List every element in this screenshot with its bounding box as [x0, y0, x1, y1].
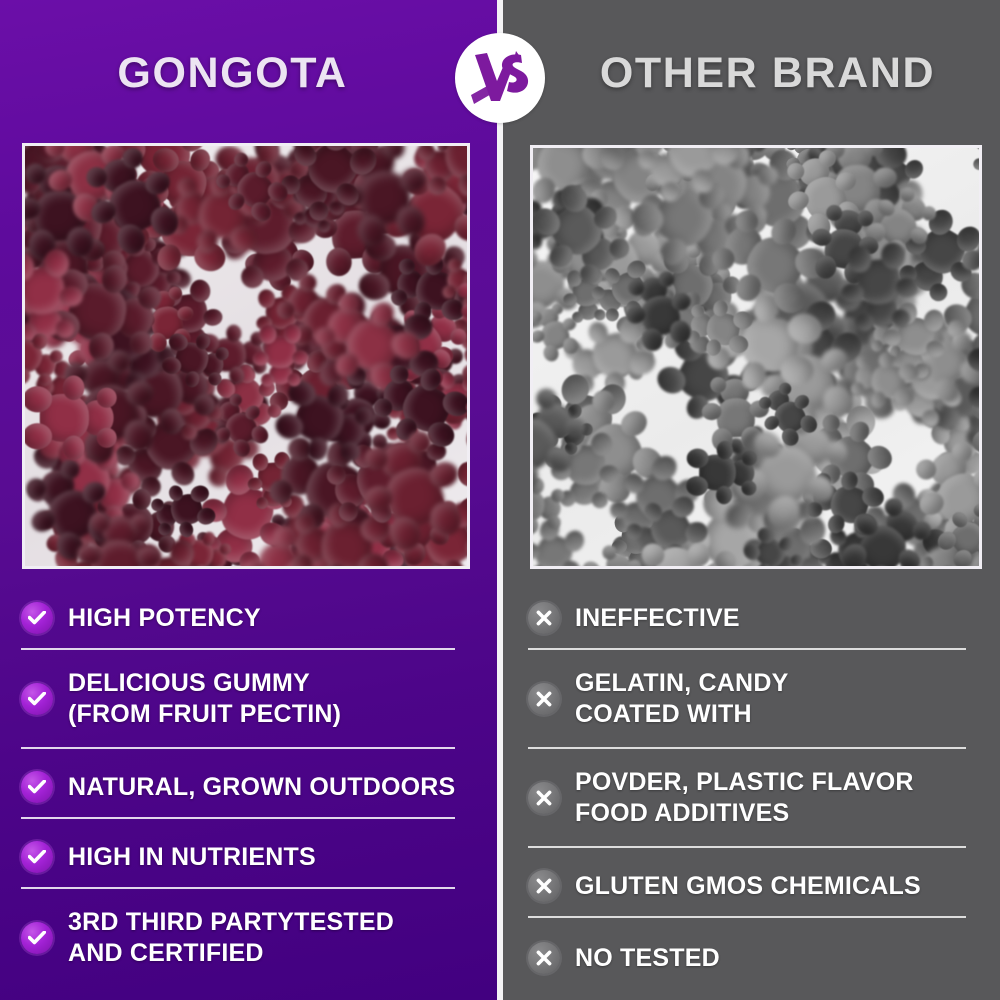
list-item-label: NATURAL, GROWN OUTDOORS: [68, 772, 455, 803]
list-separator: [21, 817, 455, 819]
check-icon: [21, 841, 53, 873]
check-icon: [21, 771, 53, 803]
panel-divider: [497, 0, 503, 1000]
cross-icon: [528, 942, 560, 974]
list-item[interactable]: 3RD THIRD PARTYTESTED AND CERTIFIED: [21, 907, 481, 968]
list-separator: [528, 747, 966, 749]
other-brand-product-photo: [530, 145, 982, 569]
gummy-bear-shape: [836, 239, 923, 334]
list-item[interactable]: DELICIOUS GUMMY (FROM FRUIT PECTIN): [21, 668, 481, 729]
list-item-label: GLUTEN GMOS CHEMICALS: [575, 871, 921, 902]
list-item[interactable]: HIGH IN NUTRIENTS: [21, 835, 481, 879]
list-item-label: NO TESTED: [575, 943, 720, 974]
list-separator: [528, 846, 966, 848]
list-item[interactable]: GLUTEN GMOS CHEMICALS: [528, 864, 988, 908]
list-item-label: HIGH POTENCY: [68, 603, 261, 634]
list-item-label: GELATIN, CANDY COATED WITH: [575, 668, 788, 729]
list-item-label: INEFFECTIVE: [575, 603, 740, 634]
gummy-bear-shape: [625, 544, 724, 569]
list-item-label: 3RD THIRD PARTYTESTED AND CERTIFIED: [68, 907, 394, 968]
list-separator: [21, 747, 455, 749]
gongota-feature-list: HIGH POTENCY DELICIOUS GUMMY (FROM FRUIT…: [21, 596, 481, 968]
list-item-label: HIGH IN NUTRIENTS: [68, 842, 316, 873]
check-icon: [21, 922, 53, 954]
list-item[interactable]: NO TESTED: [528, 936, 988, 980]
list-separator: [21, 648, 455, 650]
list-separator: [21, 887, 455, 889]
cross-icon: [528, 683, 560, 715]
list-separator: [528, 916, 966, 918]
gummy-bear-shape: [965, 145, 982, 186]
comparison-infographic: GONGOTA OTHER BRAND HIGH POTENCY: [0, 0, 1000, 1000]
cross-icon: [528, 782, 560, 814]
list-item-label: POVDER, PLASTIC FLAVOR FOOD ADDITIVES: [575, 767, 914, 828]
cross-icon: [528, 870, 560, 902]
list-item[interactable]: GELATIN, CANDY COATED WITH: [528, 668, 988, 729]
other-brand-photo-content: [533, 148, 979, 566]
gongota-product-photo: [22, 143, 470, 569]
check-icon: [21, 683, 53, 715]
gummy-bear-shape: [685, 440, 757, 506]
other-brand-feature-list: INEFFECTIVE GELATIN, CANDY COATED WITH P…: [528, 596, 988, 980]
list-item[interactable]: INEFFECTIVE: [528, 596, 988, 640]
list-separator: [528, 648, 966, 650]
list-item[interactable]: POVDER, PLASTIC FLAVOR FOOD ADDITIVES: [528, 767, 988, 828]
gummy-bear-shape: [252, 323, 310, 387]
list-item[interactable]: NATURAL, GROWN OUTDOORS: [21, 765, 481, 809]
gummy-bear-shape: [848, 347, 922, 416]
vs-icon: [469, 49, 531, 107]
list-item[interactable]: HIGH POTENCY: [21, 596, 481, 640]
vs-badge: [455, 33, 545, 123]
gongota-photo-content: [25, 146, 467, 566]
gummy-bear-shape: [73, 511, 162, 569]
cross-icon: [528, 602, 560, 634]
list-item-label: DELICIOUS GUMMY (FROM FRUIT PECTIN): [68, 668, 341, 729]
check-icon: [21, 602, 53, 634]
